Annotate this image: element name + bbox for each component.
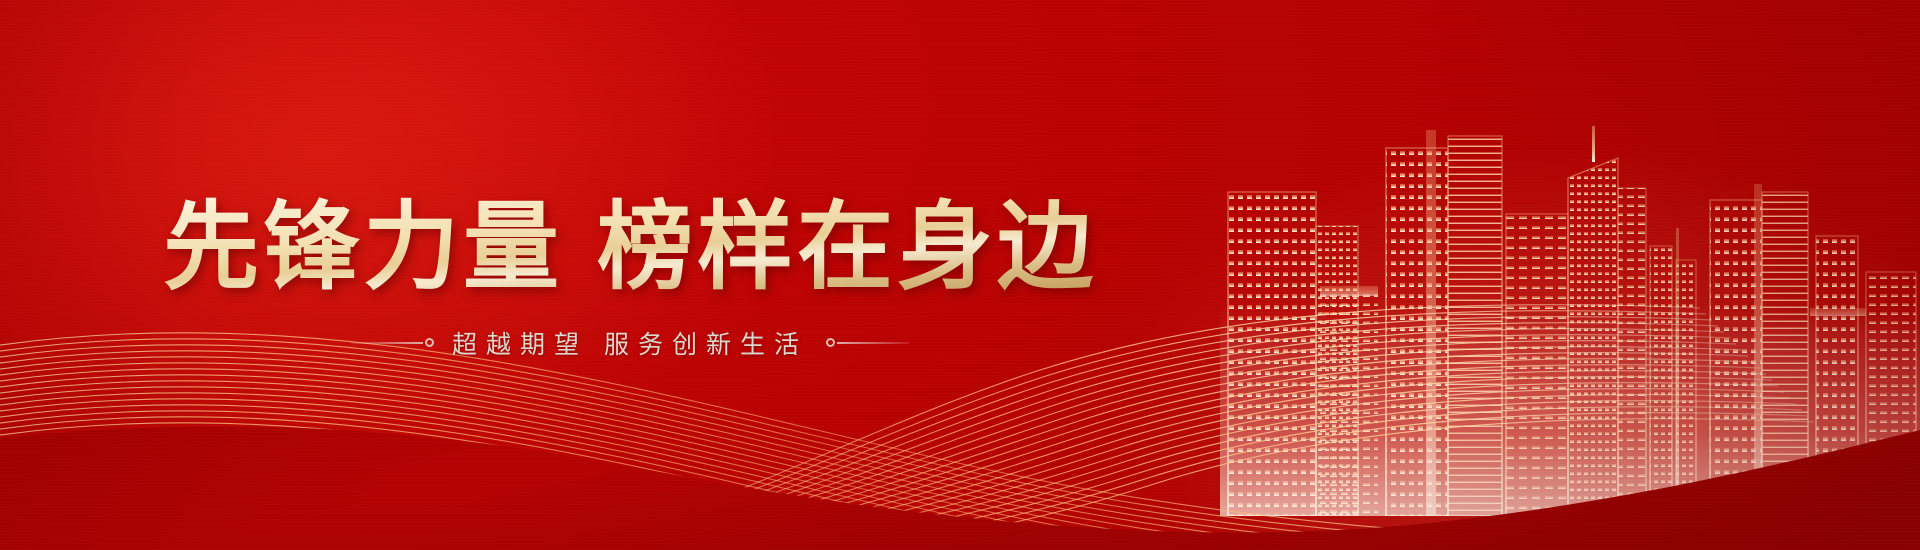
ornament-line-left: [351, 342, 423, 344]
banner-subtitle: 超越期望服务创新生活: [436, 325, 824, 361]
ornament-dot-left: [425, 338, 434, 347]
city-skyline-icon: [1220, 96, 1920, 516]
promotional-banner: 先锋力量榜样在身边 超越期望服务创新生活: [0, 0, 1920, 550]
banner-headline: 先锋力量榜样在身边: [163, 197, 1097, 299]
subtitle-part-1: 超越期望: [452, 331, 588, 359]
headline-part-1: 先锋力量: [163, 194, 563, 301]
banner-subtitle-row: 超越期望服务创新生活: [351, 325, 909, 361]
banner-text-block: 先锋力量榜样在身边 超越期望服务创新生活: [0, 0, 1260, 550]
ornament-dot-right: [826, 338, 835, 347]
left-ornament: [351, 338, 436, 347]
subtitle-part-2: 服务创新生活: [604, 331, 808, 359]
headline-part-2: 榜样在身边: [597, 194, 1097, 301]
ornament-line-right: [837, 342, 909, 344]
right-ornament: [824, 338, 909, 347]
